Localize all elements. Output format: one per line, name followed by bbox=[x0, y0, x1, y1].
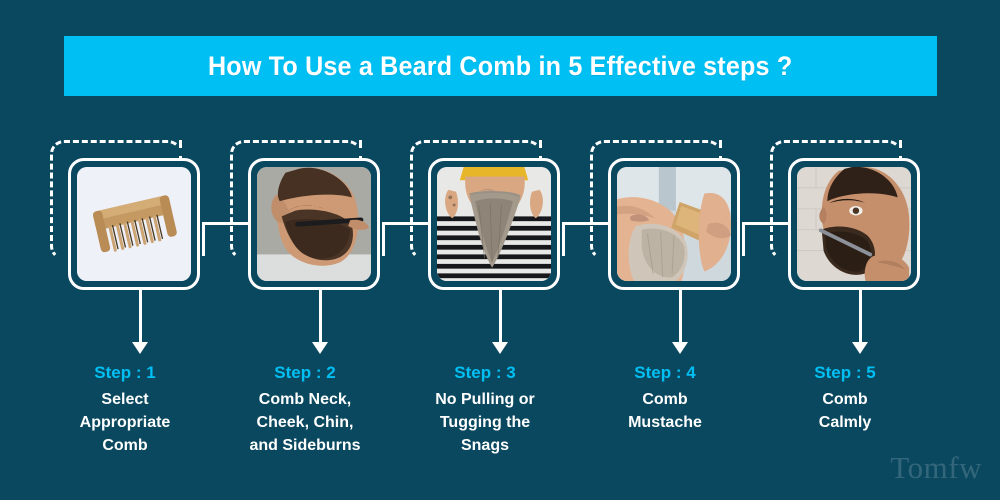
photo-comb-neck-cheek-chin bbox=[257, 167, 371, 281]
step-label-5: Step : 5 bbox=[755, 362, 935, 385]
step-label-3: Step : 3 bbox=[395, 362, 575, 385]
step-card-4 bbox=[590, 140, 740, 290]
title-banner: How To Use a Beard Comb in 5 Effective s… bbox=[64, 36, 937, 96]
solid-frame-3 bbox=[428, 158, 560, 290]
solid-frame-4 bbox=[608, 158, 740, 290]
step-caption-2: Step : 2 Comb Neck, Cheek, Chin, and Sid… bbox=[215, 362, 395, 458]
step-label-2: Step : 2 bbox=[215, 362, 395, 385]
step-description-4: Comb Mustache bbox=[575, 388, 755, 434]
steps-row: Step : 1 Select Appropriate Comb bbox=[0, 140, 1000, 458]
step-item-2: Step : 2 Comb Neck, Cheek, Chin, and Sid… bbox=[215, 140, 395, 458]
solid-frame-1 bbox=[68, 158, 200, 290]
step-item-5: Step : 5 Comb Calmly bbox=[755, 140, 935, 458]
solid-frame-2 bbox=[248, 158, 380, 290]
step-caption-1: Step : 1 Select Appropriate Comb bbox=[35, 362, 215, 458]
step-caption-5: Step : 5 Comb Calmly bbox=[755, 362, 935, 434]
step-card-3 bbox=[410, 140, 560, 290]
step-caption-3: Step : 3 No Pulling or Tugging the Snags bbox=[395, 362, 575, 458]
connector-arrow-down-1 bbox=[139, 290, 142, 342]
connector-arrow-down-2 bbox=[319, 290, 322, 342]
watermark-logo: Tomfw bbox=[890, 450, 982, 486]
page-title: How To Use a Beard Comb in 5 Effective s… bbox=[208, 51, 792, 82]
step-item-1: Step : 1 Select Appropriate Comb bbox=[35, 140, 215, 458]
step-description-3: No Pulling or Tugging the Snags bbox=[395, 388, 575, 458]
step-card-1 bbox=[50, 140, 200, 290]
step-description-5: Comb Calmly bbox=[755, 388, 935, 434]
step-label-4: Step : 4 bbox=[575, 362, 755, 385]
step-card-5 bbox=[770, 140, 920, 290]
photo-comb-calmly bbox=[797, 167, 911, 281]
step-label-1: Step : 1 bbox=[35, 362, 215, 385]
connector-arrow-down-5 bbox=[859, 290, 862, 342]
step-description-1: Select Appropriate Comb bbox=[35, 388, 215, 458]
connector-arrow-down-3 bbox=[499, 290, 502, 342]
solid-frame-5 bbox=[788, 158, 920, 290]
step-caption-4: Step : 4 Comb Mustache bbox=[575, 362, 755, 434]
step-description-2: Comb Neck, Cheek, Chin, and Sideburns bbox=[215, 388, 395, 458]
connector-arrow-down-4 bbox=[679, 290, 682, 342]
step-item-4: Step : 4 Comb Mustache bbox=[575, 140, 755, 458]
step-item-3: Step : 3 No Pulling or Tugging the Snags bbox=[395, 140, 575, 458]
photo-wooden-comb bbox=[77, 167, 191, 281]
step-card-2 bbox=[230, 140, 380, 290]
photo-no-pulling-snags bbox=[437, 167, 551, 281]
photo-comb-mustache bbox=[617, 167, 731, 281]
